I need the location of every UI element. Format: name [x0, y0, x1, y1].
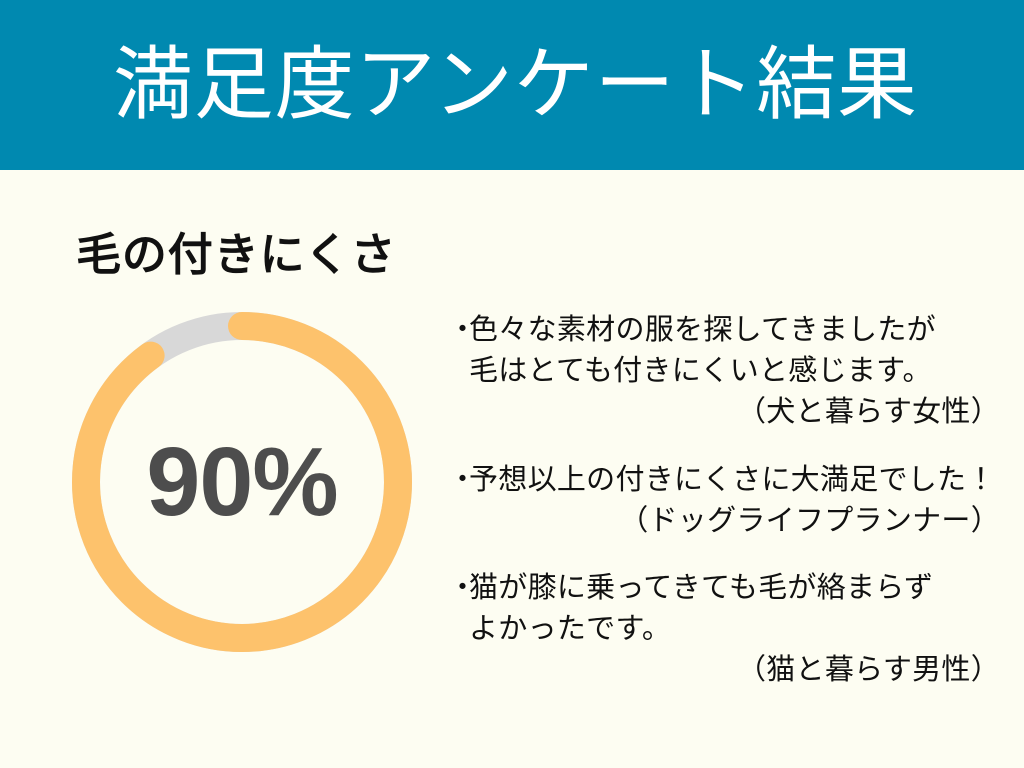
content-area: 毛の付きにくさ 90% ・色々な素材の服を探してきましたが 毛はとても付きにくい…	[0, 170, 1024, 768]
bullet-icon: ・	[448, 460, 469, 501]
testimonial-line: 猫が膝に乗ってきても毛が絡まらず	[469, 572, 933, 604]
section-title: 毛の付きにくさ	[76, 218, 396, 283]
bullet-icon: ・	[448, 568, 469, 609]
testimonial-attribution: （犬と暮らす女性）	[448, 392, 1008, 433]
testimonial-line: 色々な素材の服を探してきましたが	[469, 314, 936, 346]
testimonial-line: 予想以上の付きにくさに大満足でした！	[469, 464, 996, 496]
donut-value-arc	[86, 326, 398, 638]
donut-svg	[72, 312, 412, 652]
header-band: 満足度アンケート結果	[0, 0, 1024, 170]
testimonial-line: よかったです。	[448, 609, 1008, 650]
testimonial-item: ・猫が膝に乗ってきても毛が絡まらず よかったです。 （猫と暮らす男性）	[448, 568, 1008, 692]
testimonial-attribution: （ドッグライフプランナー）	[448, 501, 1008, 542]
testimonial-item: ・色々な素材の服を探してきましたが 毛はとても付きにくいと感じます。 （犬と暮ら…	[448, 310, 1008, 434]
page-title: 満足度アンケート結果	[113, 20, 933, 150]
bullet-icon: ・	[448, 310, 469, 351]
testimonial-attribution: （猫と暮らす男性）	[448, 650, 1008, 691]
satisfaction-donut-chart: 90%	[72, 312, 412, 652]
testimonial-line: 毛はとても付きにくいと感じます。	[448, 351, 1008, 392]
testimonial-item: ・予想以上の付きにくさに大満足でした！ （ドッグライフプランナー）	[448, 460, 1008, 542]
testimonial-list: ・色々な素材の服を探してきましたが 毛はとても付きにくいと感じます。 （犬と暮ら…	[448, 310, 1008, 691]
